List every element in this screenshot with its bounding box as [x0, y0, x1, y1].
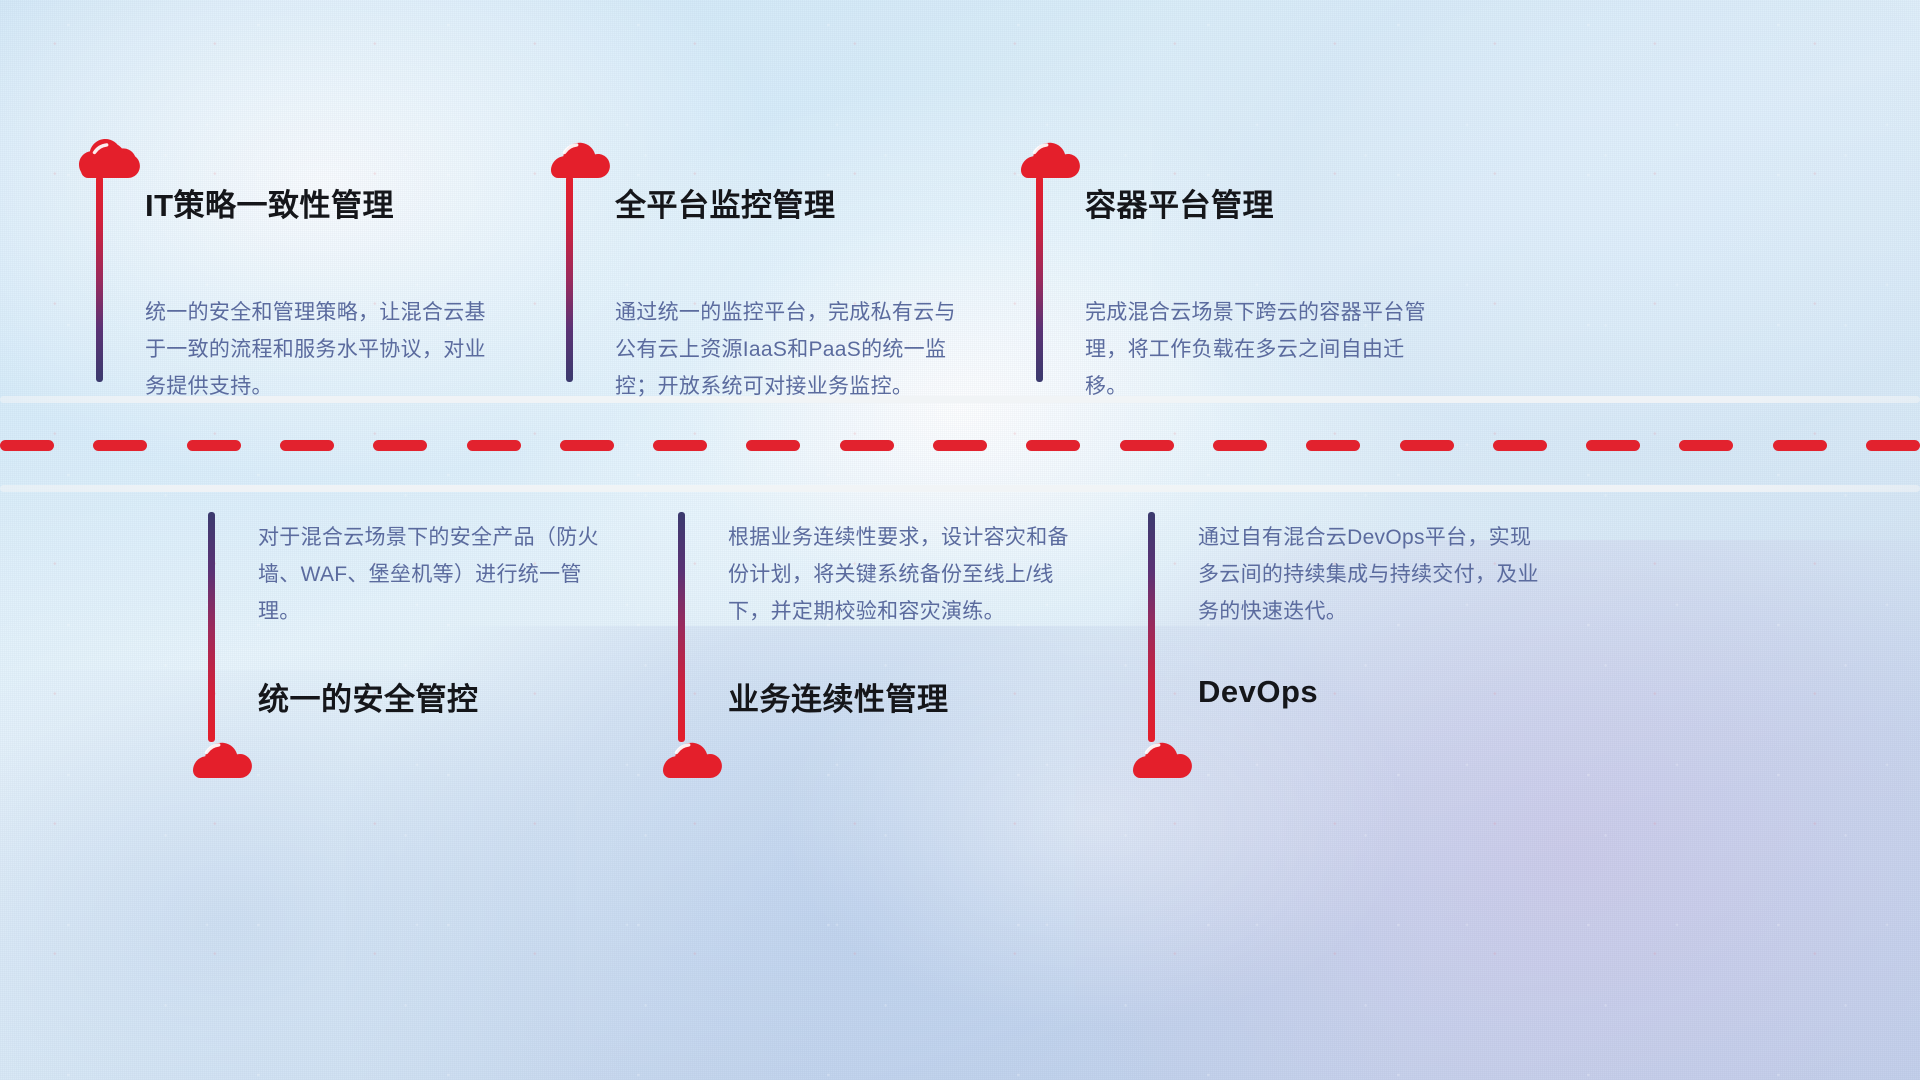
divider-dash: [560, 440, 614, 451]
divider-dash: [467, 440, 521, 451]
divider-dash: [1306, 440, 1360, 451]
divider-dash: [1866, 440, 1920, 451]
column-body-text: 对于混合云场景下的安全产品（防火墙、WAF、堡垒机等）进行统一管理。: [258, 519, 606, 630]
column-stem: [1148, 512, 1155, 742]
divider-dash: [746, 440, 800, 451]
divider-dash: [93, 440, 147, 451]
divider-dash: [1026, 440, 1080, 451]
column-body-text: 完成混合云场景下跨云的容器平台管理，将工作负载在多云之间自由迁移。: [1085, 294, 1433, 405]
divider-dash: [0, 440, 54, 451]
divider-dash: [1213, 440, 1267, 451]
column-heading: 容器平台管理: [1085, 180, 1274, 225]
column-stem: [566, 176, 573, 382]
column-body-text: 通过统一的监控平台，完成私有云与公有云上资源IaaS和PaaS的统一监控；开放系…: [615, 294, 963, 405]
column-stem: [96, 176, 103, 382]
cloud-icon: [1018, 133, 1080, 179]
divider-rule-bottom: [0, 485, 1920, 492]
center-divider: [0, 396, 1920, 496]
column-heading: 统一的安全管控: [258, 674, 479, 719]
column-stem: [1036, 176, 1043, 382]
column-heading: 业务连续性管理: [728, 674, 949, 719]
column-heading: DevOps: [1198, 674, 1318, 710]
divider-dash: [933, 440, 987, 451]
divider-dash: [1400, 440, 1454, 451]
cloud-icon: [660, 733, 722, 779]
column-stem: [208, 512, 215, 742]
divider-dashed-line: [0, 440, 1920, 451]
divider-dash: [1493, 440, 1547, 451]
divider-dash: [1679, 440, 1733, 451]
cloud-icon: [78, 133, 140, 179]
column-body-text: 统一的安全和管理策略，让混合云基于一致的流程和服务水平协议，对业务提供支持。: [145, 294, 493, 405]
column-body-text: 通过自有混合云DevOps平台，实现多云间的持续集成与持续交付，及业务的快速迭代…: [1198, 519, 1546, 630]
divider-dash: [373, 440, 427, 451]
cloud-icon: [1130, 733, 1192, 779]
divider-dash: [1120, 440, 1174, 451]
divider-dash: [840, 440, 894, 451]
cloud-icon: [190, 733, 252, 779]
column-body-text: 根据业务连续性要求，设计容灾和备份计划，将关键系统备份至线上/线下，并定期校验和…: [728, 519, 1076, 630]
column-stem: [678, 512, 685, 742]
divider-dash: [1773, 440, 1827, 451]
divider-dash: [280, 440, 334, 451]
divider-dash: [187, 440, 241, 451]
column-heading: 全平台监控管理: [615, 180, 836, 225]
cloud-icon: [548, 133, 610, 179]
divider-dash: [653, 440, 707, 451]
divider-dash: [1586, 440, 1640, 451]
column-heading: IT策略一致性管理: [145, 180, 394, 225]
